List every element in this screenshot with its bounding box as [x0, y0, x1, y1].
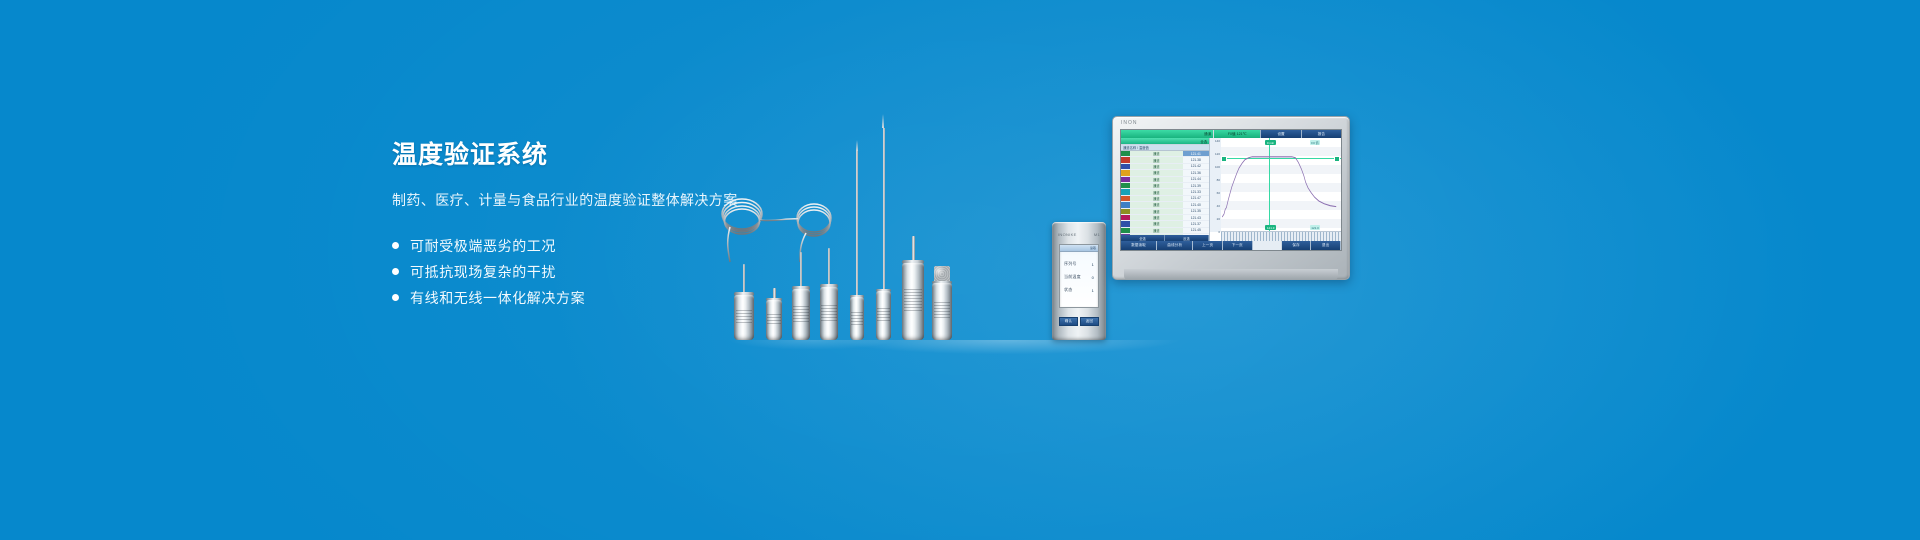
topbar-report-button[interactable]: 报告 — [1301, 130, 1341, 138]
channel-value: 121.40 — [1183, 202, 1209, 207]
channel-list-header: 全选 — [1121, 138, 1209, 145]
bullet-dot-icon — [392, 242, 399, 249]
list-item: 当前温度 0 — [1064, 274, 1094, 280]
ytick-label: 80 — [1217, 178, 1220, 182]
logger-body — [876, 291, 891, 340]
channel-name: 通道 — [1130, 170, 1183, 175]
product-reflection — [700, 340, 1260, 374]
feature-label: 可耐受极端恶劣的工况 — [410, 236, 556, 256]
monitor-logo: INON — [1121, 120, 1138, 126]
list-item: 可抵抗现场复杂的干扰 — [392, 259, 812, 285]
screen-topbar: 通道 F0值 121℃ 设置 报告 — [1121, 130, 1341, 138]
probe-needle — [883, 128, 885, 290]
needle-tip — [882, 114, 884, 128]
handheld-back-button[interactable]: 返回 — [1080, 317, 1099, 326]
brand-name: INONIKE — [1058, 232, 1077, 237]
chart-series-line — [1221, 138, 1341, 232]
ytick-label: 60 — [1217, 191, 1220, 195]
handheld-brand-label: INONIKE M1 — [1058, 231, 1100, 238]
readout-label: 状态 — [1064, 287, 1072, 293]
channel-color-swatch — [1121, 157, 1130, 162]
channel-color-swatch — [1121, 177, 1130, 182]
readout-value: 0 — [1092, 275, 1094, 280]
needle-tip — [856, 140, 858, 151]
handheld-keypad: 确认 返回 — [1059, 317, 1099, 326]
channel-color-swatch — [1121, 170, 1130, 175]
channel-color-swatch — [1121, 221, 1130, 226]
logger-body — [902, 263, 924, 340]
logger-body — [932, 283, 952, 340]
list-item: 可耐受极端恶劣的工况 — [392, 233, 812, 259]
channel-name: 通道 — [1130, 228, 1183, 233]
channel-name: 通道 — [1130, 164, 1183, 169]
readout-value: 1 — [1092, 262, 1094, 267]
probe-stem — [912, 236, 915, 262]
ytick-label: 20 — [1217, 217, 1220, 221]
channel-name: 通道 — [1130, 215, 1183, 220]
banner-subtitle: 制药、医疗、计量与食品行业的温度验证整体解决方案 — [392, 191, 812, 211]
readout-label: 序列号 — [1064, 261, 1077, 267]
bullet-dot-icon — [392, 268, 399, 275]
ytick-label: 120 — [1215, 152, 1220, 156]
list-item — [932, 266, 952, 340]
monitor-screen: 通道 F0值 121℃ 设置 报告 全选 通道名称 / 温度值 — [1120, 129, 1342, 251]
validation-monitor: INON 通道 F0值 121℃ 设置 报告 全选 — [1112, 116, 1350, 280]
channel-value: 121.33 — [1183, 189, 1209, 194]
list-item: 有线和无线一体化解决方案 — [392, 285, 812, 311]
channel-value: 121.36 — [1183, 170, 1209, 175]
ytick-label: 100 — [1215, 165, 1220, 169]
channel-value: 121.45 — [1183, 228, 1209, 233]
channel-name: 通道 — [1130, 209, 1183, 214]
channel-value: 121.47 — [1183, 196, 1209, 201]
channel-value: 121.41 — [1183, 151, 1209, 156]
readout-value: 1 — [1092, 288, 1094, 293]
channel-value: 121.42 — [1183, 164, 1209, 169]
handheld-confirm-button[interactable]: 确认 — [1059, 317, 1078, 326]
handheld-readout-list: 序列号 1 当前温度 0 状态 1 — [1060, 252, 1098, 293]
channel-name: 通道 — [1130, 151, 1183, 156]
probe-stem — [828, 248, 831, 286]
handheld-reader[interactable]: INONIKE M1 读取 序列号 1 当前温度 0 — [1052, 222, 1106, 340]
channel-color-swatch — [1121, 189, 1130, 194]
channel-value: 121.37 — [1183, 221, 1209, 226]
channel-list-subheader-label: 通道名称 / 温度值 — [1123, 145, 1149, 150]
channel-value: 121.39 — [1183, 183, 1209, 188]
channel-color-swatch — [1121, 151, 1130, 156]
list-item — [902, 236, 924, 340]
list-item — [850, 140, 864, 340]
ytick-label: 0 — [1218, 230, 1220, 234]
feature-list: 可耐受极端恶劣的工况 可抵抗现场复杂的干扰 有线和无线一体化解决方案 — [392, 233, 812, 311]
channel-name: 通道 — [1130, 196, 1183, 201]
channel-list-panel: 全选 通道名称 / 温度值 通道121.41 通道121.38 通道121.42… — [1121, 138, 1210, 241]
channel-rows[interactable]: 通道121.41 通道121.38 通道121.42 通道121.36 通道12… — [1121, 151, 1209, 235]
channel-color-swatch — [1121, 202, 1130, 207]
ytick-label: 140 — [1215, 139, 1220, 143]
list-item: 状态 1 — [1064, 287, 1094, 293]
channel-color-swatch — [1121, 164, 1130, 169]
channel-name: 通道 — [1130, 221, 1183, 226]
channel-color-swatch — [1121, 183, 1130, 188]
chart-canvas: 0 min 121.3 F0 值 121.0 — [1221, 138, 1341, 232]
curve-analysis-button[interactable]: 曲线分析 — [1157, 241, 1193, 250]
channel-value: 121.35 — [1183, 209, 1209, 214]
button-bar-spacer — [1253, 241, 1282, 250]
channel-color-swatch — [1121, 228, 1130, 233]
channel-name: 通道 — [1130, 157, 1183, 162]
handheld-titlebar: 读取 — [1060, 245, 1098, 252]
channel-color-swatch — [1121, 215, 1130, 220]
banner-copy: 温度验证系统 制药、医疗、计量与食品行业的温度验证整体解决方案 可耐受极端恶劣的… — [392, 140, 812, 311]
channel-name: 通道 — [1130, 202, 1183, 207]
list-item — [876, 114, 891, 340]
channel-value: 121.38 — [1183, 157, 1209, 162]
bullet-dot-icon — [392, 294, 399, 301]
channel-color-swatch — [1121, 196, 1130, 201]
handheld-screen: 读取 序列号 1 当前温度 0 状态 1 — [1059, 244, 1099, 308]
monitor-stand — [1124, 269, 1338, 280]
topbar-f0-badge: F0值 121℃ — [1214, 130, 1260, 138]
channel-value: 121.43 — [1183, 215, 1209, 220]
channel-list-selectall[interactable]: 全选 — [1200, 139, 1207, 144]
next-page-button[interactable]: 下一页 — [1223, 241, 1253, 250]
temperature-chart: 140 120 100 80 60 40 20 0 — [1210, 138, 1341, 241]
channel-name: 通道 — [1130, 183, 1183, 188]
feature-label: 可抵抗现场复杂的干扰 — [410, 262, 556, 282]
topbar-channel-label: 通道 — [1121, 130, 1214, 138]
chart-x-axis[interactable] — [1221, 231, 1341, 241]
list-item — [820, 248, 838, 340]
handheld-titlebar-label: 读取 — [1090, 246, 1096, 250]
channel-name: 通道 — [1130, 177, 1183, 182]
list-item: 序列号 1 — [1064, 261, 1094, 267]
channel-name: 通道 — [1130, 189, 1183, 194]
page-title: 温度验证系统 — [392, 140, 812, 170]
product-banner: 温度验证系统 制药、医疗、计量与食品行业的温度验证整体解决方案 可耐受极端恶劣的… — [0, 0, 1920, 540]
ytick-label: 40 — [1217, 204, 1220, 208]
prev-page-button[interactable]: 上一页 — [1193, 241, 1223, 250]
screen-button-bar: 数据读取 曲线分析 上一页 下一页 保存 退出 — [1121, 241, 1341, 250]
logger-body — [850, 297, 864, 340]
readout-label: 当前温度 — [1064, 274, 1081, 280]
screen-body: 全选 通道名称 / 温度值 通道121.41 通道121.38 通道121.42… — [1121, 138, 1341, 241]
sintered-filter-icon — [934, 266, 950, 282]
topbar-settings-button[interactable]: 设置 — [1260, 130, 1300, 138]
channel-value: 121.44 — [1183, 177, 1209, 182]
feature-label: 有线和无线一体化解决方案 — [410, 288, 585, 308]
model-name: M1 — [1094, 232, 1100, 237]
read-data-button[interactable]: 数据读取 — [1121, 241, 1157, 250]
channel-color-swatch — [1121, 209, 1130, 214]
probe-needle — [856, 151, 858, 296]
exit-button[interactable]: 退出 — [1311, 241, 1341, 250]
logger-body — [820, 287, 838, 340]
save-button[interactable]: 保存 — [1282, 241, 1312, 250]
